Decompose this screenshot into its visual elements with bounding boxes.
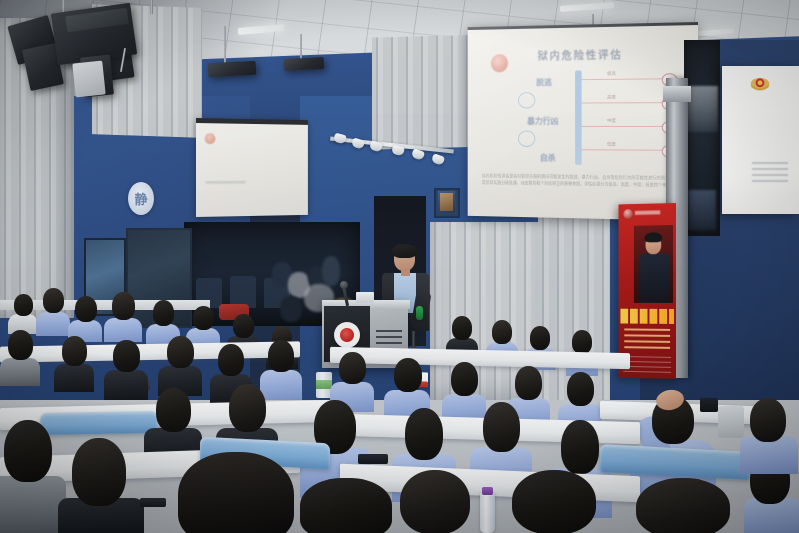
person-torso (0, 476, 66, 533)
person-head (14, 294, 33, 316)
person-head (394, 358, 422, 392)
person-head (4, 420, 52, 482)
audience-person-foreground (0, 420, 66, 533)
person-head (193, 306, 214, 330)
audience-person (8, 292, 38, 332)
audience-person (36, 288, 70, 334)
person-head (43, 288, 64, 313)
bottle-cap (482, 487, 493, 495)
lectern-vent (376, 336, 402, 338)
person-head (451, 362, 478, 396)
slide-risk-label: 自杀 (540, 152, 556, 164)
audience-person (158, 336, 202, 394)
person-torso (54, 364, 94, 392)
phone (140, 498, 166, 507)
slide-connector (582, 78, 664, 80)
person-head (339, 352, 366, 384)
portrait-uniform (639, 253, 670, 303)
person-hair-long (178, 452, 294, 533)
audience-person (104, 340, 148, 398)
person-head (492, 320, 512, 344)
white-speaker-box (72, 61, 105, 98)
person-head (113, 340, 140, 372)
person-head (515, 366, 542, 400)
slide-risk-label: 暴力行凶 (527, 115, 558, 127)
panel-text-blur (752, 162, 788, 184)
slide-level-label: 中度 (607, 118, 616, 124)
person-head (233, 314, 254, 338)
person-silhouette (280, 296, 302, 322)
person-head (400, 470, 470, 533)
water-bottle (480, 492, 495, 533)
person-head (229, 384, 266, 432)
right-dark-display (684, 40, 720, 236)
portrait-hair (645, 232, 663, 242)
person-head (567, 372, 594, 406)
person-head (8, 330, 33, 360)
person-torso (104, 318, 142, 342)
audience-person-foreground (400, 470, 470, 533)
lectern-paper (356, 292, 374, 303)
person-silhouette (322, 256, 340, 286)
slide-text-blur (206, 181, 246, 184)
audience-person (0, 330, 40, 384)
banner-footer-text (623, 356, 671, 375)
banner-bullet-lines (624, 328, 670, 352)
slide-title: 狱内危险性评估 (468, 45, 698, 64)
person-head (452, 316, 472, 340)
person-head (483, 402, 520, 452)
banner-logo-icon (623, 209, 633, 219)
slide-body-text: 狱内危险性评估是指对罪犯在服刑期间可能发生的脱逃、暴力行凶、自杀等危险行为的可能… (482, 172, 686, 188)
phone (700, 398, 718, 412)
audience-person-foreground-long-hair (178, 452, 294, 533)
slide-axis-bar (575, 70, 582, 164)
audience-person-foreground (636, 478, 730, 533)
police-emblem-icon (205, 133, 216, 144)
quiet-sign-character: 静 (134, 189, 147, 208)
lectern-vent (376, 342, 402, 344)
reflection (688, 190, 716, 230)
audience-person (68, 296, 102, 340)
slide-level-label: 极高 (607, 71, 616, 77)
person-head (153, 300, 174, 326)
slide-connector (582, 126, 664, 127)
presenter-hair (392, 244, 417, 258)
person-head (572, 330, 592, 354)
person-head (218, 344, 244, 376)
banner-headline (620, 309, 674, 324)
person-torso (104, 370, 148, 400)
slide-ring (518, 92, 535, 108)
audience-person (740, 398, 798, 470)
person-torso (0, 358, 40, 386)
audience-person-foreground (58, 438, 144, 533)
right-display-panel (722, 66, 799, 214)
person-head (750, 398, 786, 442)
person-head (167, 336, 194, 368)
handheld-microphone (416, 306, 423, 320)
audience-person (54, 336, 94, 390)
audience-person (104, 292, 142, 340)
person-head (636, 478, 730, 533)
person-head (72, 438, 126, 506)
slide-risk-label: 脱逃 (536, 77, 552, 89)
person-head (75, 296, 97, 322)
person-head (156, 388, 191, 432)
slide-connector (582, 149, 664, 151)
slide-level-label: 低度 (607, 142, 616, 148)
lecture-hall-photo: 狱内危险性评估 01 02 03 04 极高 高度 中度 低度 脱逃 暴力行凶 … (0, 0, 799, 533)
person-head (112, 292, 135, 320)
phone (358, 454, 388, 464)
ceiling-projector (284, 57, 325, 71)
main-projection-screen: 狱内危险性评估 01 02 03 04 极高 高度 中度 低度 脱逃 暴力行凶 … (468, 22, 698, 221)
audience-person-foreground (512, 470, 596, 533)
person-head (405, 408, 443, 460)
banner-portrait (634, 225, 673, 303)
pillar-cap (663, 86, 691, 102)
person-head (530, 326, 550, 350)
lectern-vent (376, 330, 402, 332)
banner-org-text (635, 210, 660, 215)
audience-person-foreground (300, 478, 392, 533)
person-head (561, 420, 599, 474)
quiet-sign: 静 (128, 182, 154, 215)
institution-emblem-icon (334, 322, 360, 348)
slide-level-label: 高度 (607, 95, 616, 101)
mount-rod (150, 0, 153, 14)
microphone-head (340, 281, 348, 289)
slide-connector (582, 102, 664, 103)
secondary-projection-screen (196, 118, 308, 217)
ceiling-projector (208, 61, 257, 77)
person-head (62, 336, 87, 366)
person-head (300, 478, 392, 533)
person-head (268, 340, 294, 372)
police-emblem-icon (749, 75, 771, 95)
slide-ring (518, 131, 535, 147)
person-torso (36, 312, 70, 336)
person-head (512, 470, 596, 533)
framed-picture-art (437, 190, 456, 214)
